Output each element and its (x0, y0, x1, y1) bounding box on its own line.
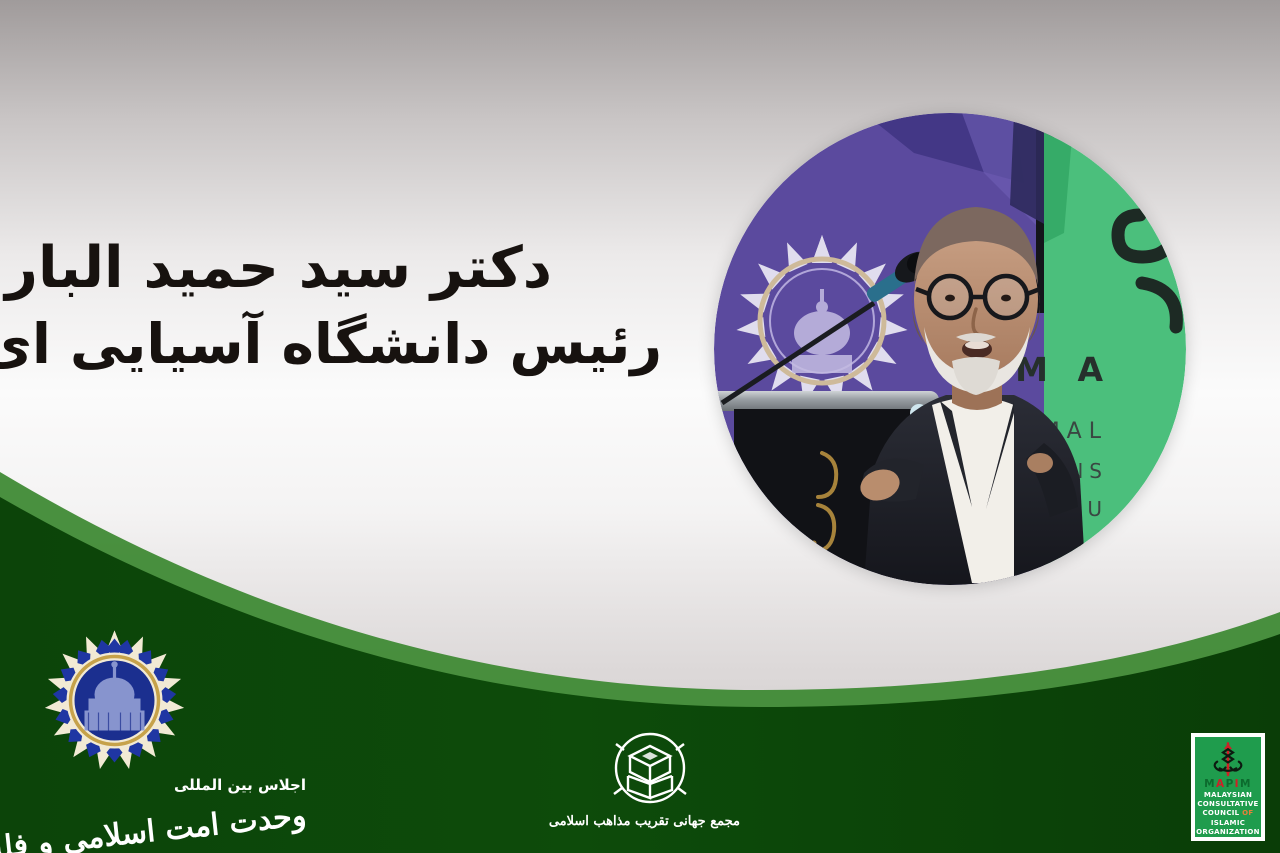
speaker-photo: M A MAL CONS COU IS (714, 113, 1186, 585)
proximity-forum-logo: مجمع جهانی تقریب مذاهب اسلامی (560, 726, 740, 846)
conference-logo: اجلاس بین المللی وحدت امت اسلامی و فلسطی… (26, 628, 316, 843)
slide-canvas: دکتر سید حمید البار رئیس دانشگاه آسیایی … (0, 0, 1280, 853)
kaaba-open-book-mark (604, 726, 696, 812)
speaker-name: دکتر سید حمید البار (0, 232, 672, 305)
conference-title: وحدت امت اسلامی و فلسطین (26, 798, 308, 853)
mapim-line-4: ISLAMIC (1196, 819, 1260, 828)
mapim-org-lines: MALAYSIAN CONSULTATIVE COUNCIL OF ISLAMI… (1196, 791, 1260, 837)
mapim-line-5: ORGANIZATION (1196, 828, 1260, 837)
speaker-title: رئیس دانشگاه آسیایی ای-یو مالزی (0, 309, 672, 381)
mapim-logo-panel: MAPIM MALAYSIAN CONSULTATIVE COUNCIL OF … (1194, 736, 1262, 838)
mapim-line-2: CONSULTATIVE (1196, 800, 1260, 809)
mapim-calligraphy-icon (1205, 740, 1251, 778)
mapim-line-3b: OF (1242, 809, 1253, 817)
mapim-line-1: MALAYSIAN (1196, 791, 1260, 800)
mapim-line-3a: COUNCIL (1202, 809, 1239, 817)
dome-of-the-rock-emblem (42, 628, 187, 773)
conference-subtitle: اجلاس بین المللی (26, 776, 306, 794)
mapim-line-3: COUNCIL OF (1196, 809, 1260, 818)
mapim-wordmark: MAPIM (1204, 779, 1252, 790)
svg-text:M A: M A (1015, 350, 1112, 389)
speaker-photo-illustration: M A MAL CONS COU IS (714, 113, 1186, 585)
mapim-logo: MAPIM MALAYSIAN CONSULTATIVE COUNCIL OF … (1191, 733, 1265, 841)
proximity-forum-caption: مجمع جهانی تقریب مذاهب اسلامی (560, 814, 740, 829)
speaker-headline: دکتر سید حمید البار رئیس دانشگاه آسیایی … (0, 232, 700, 380)
